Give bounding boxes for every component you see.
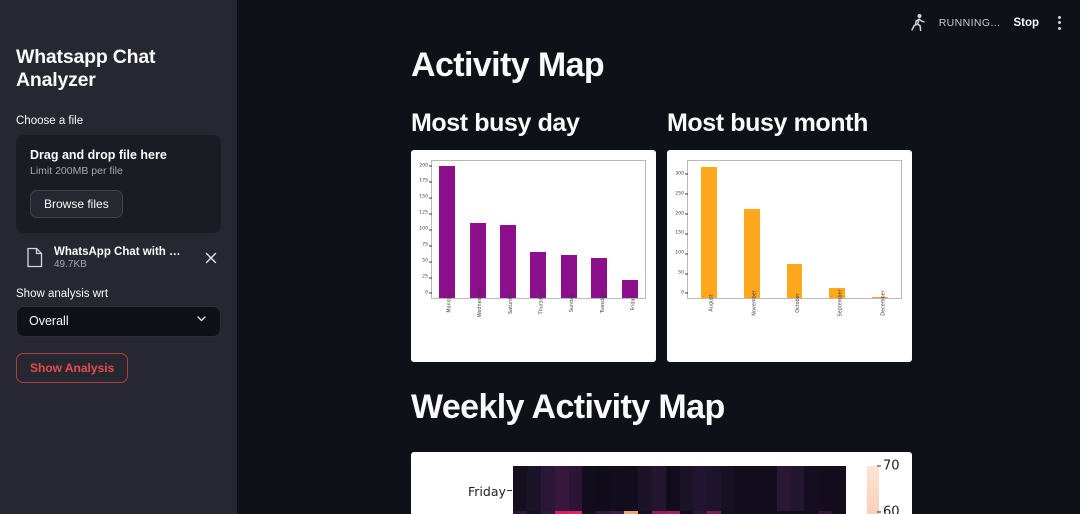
- heatmap-cell: [555, 466, 569, 511]
- bar-sunday: [561, 255, 577, 298]
- x-axis-tick-label: November: [752, 290, 758, 315]
- heatmap-cell: [569, 511, 583, 514]
- x-axis-tick-label: Thursday: [538, 292, 544, 315]
- weekly-activity-heatmap: Friday 7060: [411, 452, 912, 514]
- uploaded-file-size: 49.7KB: [54, 259, 192, 270]
- weekly-activity-section: Weekly Activity Map Friday 7060: [237, 390, 1080, 514]
- x-axis-tick: November: [743, 300, 759, 360]
- heatmap-cell: [638, 511, 652, 514]
- bar-group: [688, 161, 901, 298]
- most-busy-day-card: Most busy day 0255075100125150175200Mond…: [411, 110, 656, 362]
- heatmap-cell: [513, 511, 527, 514]
- heatmap-cell: [763, 511, 777, 514]
- y-axis-tick: 0: [681, 290, 684, 295]
- heatmap-cell: [735, 466, 749, 511]
- x-axis-tick: Saturday: [500, 300, 516, 360]
- heatmap-cell: [541, 466, 555, 511]
- dropzone-title: Drag and drop file here: [30, 148, 207, 162]
- x-axis-tick: Sunday: [561, 300, 577, 360]
- heatmap-cells: [513, 466, 846, 514]
- x-axis-tick-label: December: [881, 290, 887, 315]
- most-busy-month-title: Most busy month: [667, 110, 912, 136]
- bar-november: [744, 209, 760, 298]
- file-dropzone[interactable]: Drag and drop file here Limit 200MB per …: [16, 135, 221, 233]
- heatmap-cell: [666, 466, 680, 511]
- content-area: Activity Map Most busy day 0255075100125…: [237, 0, 1080, 514]
- y-axis-tick: 200: [675, 211, 684, 216]
- analysis-select-label: Show analysis wrt: [16, 288, 221, 300]
- file-icon: [26, 247, 43, 268]
- analysis-select-value: Overall: [29, 314, 69, 328]
- choose-file-label: Choose a file: [16, 113, 221, 129]
- app-root: Whatsapp Chat Analyzer Choose a file Dra…: [0, 0, 1080, 514]
- y-axis-tick: 50: [678, 271, 684, 276]
- heatmap-cell: [804, 466, 818, 511]
- heatmap-cell: [569, 466, 583, 511]
- x-axis-tick: August: [700, 300, 716, 360]
- uploaded-file-meta: WhatsApp Chat with Fina... 49.7KB: [54, 246, 192, 270]
- heatmap-cell: [763, 466, 777, 511]
- heatmap-cell: [610, 466, 624, 511]
- x-axis-ticks: AugustNovemberOctoberSeptemberDecember: [687, 300, 902, 360]
- charts-row: Most busy day 0255075100125150175200Mond…: [237, 110, 1080, 362]
- heatmap-cell: [582, 466, 596, 511]
- x-axis-tick-label: Monday: [446, 293, 452, 312]
- heatmap-cell: [791, 511, 805, 514]
- heatmap-cell: [693, 511, 707, 514]
- heatmap-cell: [749, 511, 763, 514]
- heatmap-cell: [777, 511, 791, 514]
- page-title: Whatsapp Chat Analyzer: [16, 46, 221, 93]
- heatmap-cell: [624, 511, 638, 514]
- bar-august: [701, 167, 717, 298]
- heatmap-cell: [804, 511, 818, 514]
- most-busy-month-card: Most busy month 050100150200250300August…: [667, 110, 912, 362]
- most-busy-month-chart: 050100150200250300AugustNovemberOctoberS…: [667, 150, 912, 362]
- colorbar-tick-label: 70: [883, 458, 900, 473]
- most-busy-day-chart: 0255075100125150175200MondayWednesdaySat…: [411, 150, 656, 362]
- x-axis-tick-label: Tuesday: [600, 293, 606, 313]
- status-toolbar: RUNNING... Stop: [910, 0, 1080, 45]
- bar-group: [432, 161, 645, 298]
- dropzone-limit-text: Limit 200MB per file: [30, 165, 207, 177]
- y-axis-tick: 25: [422, 275, 428, 280]
- heatmap-ytick-mark: [507, 490, 512, 491]
- x-axis-tick: Wednesday: [469, 300, 485, 360]
- heatmap-cell: [596, 466, 610, 511]
- y-axis-tick: 125: [419, 211, 428, 216]
- heatmap-cell: [721, 511, 735, 514]
- x-axis-tick-label: August: [709, 294, 715, 311]
- heatmap-cell: [693, 466, 707, 511]
- y-axis-tick: 100: [675, 251, 684, 256]
- heatmap-cell: [652, 511, 666, 514]
- bar-wednesday: [470, 223, 486, 298]
- y-axis-tick: 250: [675, 191, 684, 196]
- x-axis-tick-label: October: [795, 293, 801, 313]
- weekly-activity-heading: Weekly Activity Map: [411, 390, 1080, 426]
- heatmap-cell: [513, 466, 527, 511]
- heatmap-cell: [596, 511, 610, 514]
- heatmap-cell: [555, 511, 569, 514]
- x-axis-tick: December: [872, 300, 888, 360]
- heatmap-cell: [791, 466, 805, 511]
- x-axis-tick: Thursday: [530, 300, 546, 360]
- x-axis-tick: Tuesday: [592, 300, 608, 360]
- x-axis-tick-label: Wednesday: [477, 289, 483, 317]
- main-content: RUNNING... Stop Activity Map Most busy d…: [237, 0, 1080, 514]
- heatmap-cell: [749, 466, 763, 511]
- y-axis-tick: 0: [425, 290, 428, 295]
- running-man-icon: [910, 13, 926, 33]
- heatmap-cell: [666, 511, 680, 514]
- heatmap-cell: [735, 511, 749, 514]
- sidebar: Whatsapp Chat Analyzer Choose a file Dra…: [0, 0, 237, 514]
- x-axis-tick: October: [786, 300, 802, 360]
- browse-files-button[interactable]: Browse files: [30, 190, 123, 218]
- heatmap-cell: [541, 511, 555, 514]
- analysis-select[interactable]: Overall: [16, 306, 221, 337]
- stop-button[interactable]: Stop: [1013, 17, 1039, 29]
- x-axis-ticks: MondayWednesdaySaturdayThursdaySundayTue…: [431, 300, 646, 360]
- y-axis-tick: 150: [675, 231, 684, 236]
- heatmap-cell: [832, 466, 846, 511]
- heatmap-cell: [610, 511, 624, 514]
- uploaded-file-item: WhatsApp Chat with Fina... 49.7KB: [16, 242, 221, 274]
- x-axis-tick: September: [829, 300, 845, 360]
- kebab-menu-icon[interactable]: [1052, 14, 1066, 32]
- chart-axes: 050100150200250300: [687, 160, 902, 299]
- x-axis-tick-label: September: [838, 289, 844, 316]
- y-axis-tick: 150: [419, 195, 428, 200]
- heatmap-cell: [527, 466, 541, 511]
- uploaded-file-name: WhatsApp Chat with Fina...: [54, 246, 187, 258]
- chart-axes: 0255075100125150175200: [431, 160, 646, 299]
- y-axis-tick: 75: [422, 243, 428, 248]
- heatmap-cell: [527, 511, 541, 514]
- heatmap-ytick-label: Friday: [468, 484, 506, 499]
- bar-monday: [439, 166, 455, 298]
- heatmap-cell: [721, 466, 735, 511]
- heatmap-cell: [777, 466, 791, 511]
- x-axis-tick-label: Sunday: [569, 294, 575, 312]
- x-axis-tick-label: Friday: [631, 296, 637, 311]
- heatmap-cell: [638, 466, 652, 511]
- heatmap-cell: [624, 466, 638, 511]
- heatmap-cell: [582, 511, 596, 514]
- heatmap-cell: [707, 466, 721, 511]
- y-axis-tick: 300: [675, 171, 684, 176]
- x-axis-tick-label: Saturday: [508, 292, 514, 314]
- heatmap-cell: [680, 511, 694, 514]
- heatmap-cell: [680, 466, 694, 511]
- heatmap-colorbar: [867, 466, 879, 514]
- x-axis-tick: Monday: [438, 300, 454, 360]
- most-busy-day-title: Most busy day: [411, 110, 656, 136]
- heatmap-cell: [707, 511, 721, 514]
- heatmap-cell: [818, 511, 832, 514]
- y-axis-tick: 50: [422, 259, 428, 264]
- y-axis-tick: 100: [419, 227, 428, 232]
- close-icon[interactable]: [203, 250, 219, 266]
- chevron-down-icon: [195, 312, 208, 330]
- x-axis-tick: Friday: [623, 300, 639, 360]
- heatmap-cell: [652, 466, 666, 511]
- heatmap-cell: [818, 466, 832, 511]
- heatmap-cell: [832, 511, 846, 514]
- status-badge: RUNNING...: [939, 17, 1001, 29]
- colorbar-tick-label: 60: [883, 504, 900, 514]
- show-analysis-button[interactable]: Show Analysis: [16, 353, 128, 383]
- activity-map-heading: Activity Map: [237, 48, 1080, 84]
- y-axis-tick: 175: [419, 179, 428, 184]
- y-axis-tick: 200: [419, 163, 428, 168]
- bar-saturday: [500, 225, 516, 298]
